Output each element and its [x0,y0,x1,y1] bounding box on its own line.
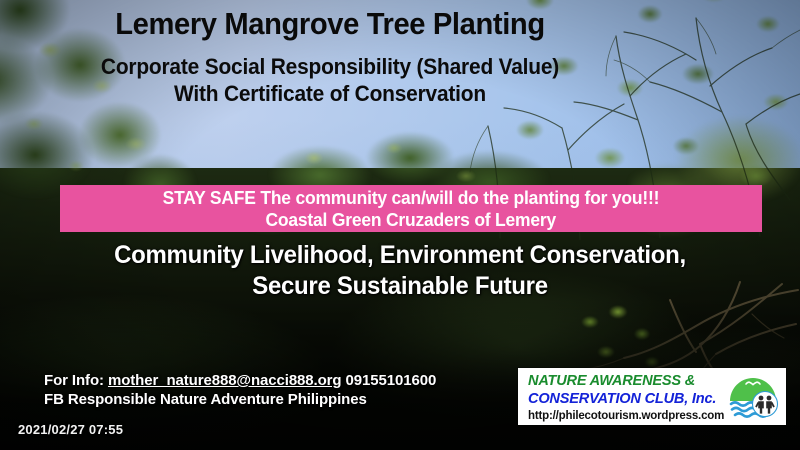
slogan-block: Community Livelihood, Environment Conser… [0,240,800,302]
contact-phone: 09155101600 [341,372,436,389]
headline-block: Lemery Mangrove Tree Planting Corporate … [0,6,660,107]
photo-timestamp: 2021/02/27 07:55 [18,422,123,437]
poster-canvas: Lemery Mangrove Tree Planting Corporate … [0,0,800,450]
logo-line-2: CONSERVATION CLUB, Inc. [528,390,710,408]
contact-block: For Info: mother_nature888@nacci888.org … [44,371,436,409]
organization-logo-box[interactable]: NATURE AWARENESS & CONSERVATION CLUB, In… [518,368,786,425]
slogan-line-1: Community Livelihood, Environment Conser… [16,240,784,271]
contact-facebook-line: FB Responsible Nature Adventure Philippi… [44,390,436,409]
email-link[interactable]: mother_nature888@nacci888.org [108,372,342,389]
page-title: Lemery Mangrove Tree Planting [20,6,640,42]
logo-line-1: NATURE AWARENESS & [528,372,710,390]
banner-line-2: Coastal Green Cruzaders of Lemery [266,209,557,231]
banner-line-1: STAY SAFE The community can/will do the … [163,187,660,209]
subtitle-line-1: Corporate Social Responsibility (Shared … [17,54,644,80]
contact-email-line: For Info: mother_nature888@nacci888.org … [44,371,436,390]
subtitle-line-2: With Certificate of Conservation [17,81,644,107]
stay-safe-banner: STAY SAFE The community can/will do the … [60,185,762,232]
logo-text-block: NATURE AWARENESS & CONSERVATION CLUB, In… [528,372,716,423]
slogan-line-2: Secure Sustainable Future [16,271,784,302]
nature-club-emblem-icon [727,371,779,423]
logo-website-url[interactable]: http://philecotourism.wordpress.com [528,408,708,423]
contact-prefix-label: For Info: [44,372,108,389]
